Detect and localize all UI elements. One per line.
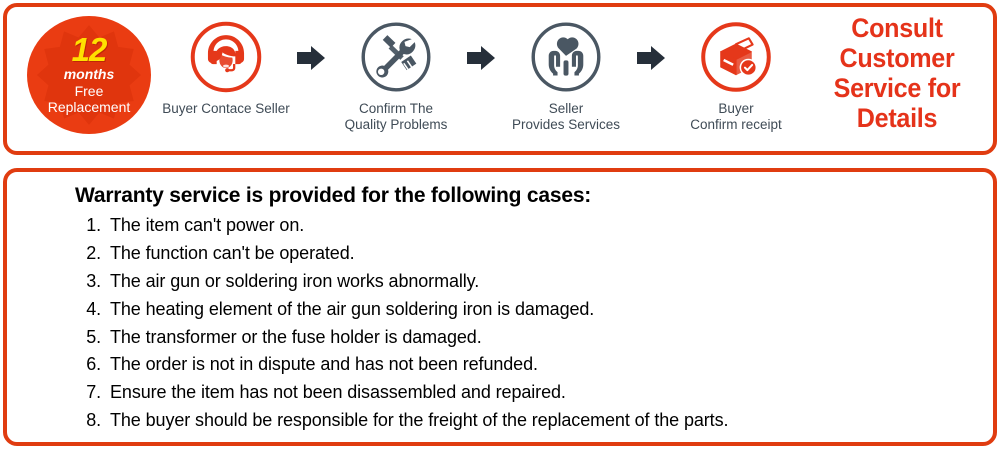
list-item-text: The air gun or soldering iron works abno… — [110, 268, 479, 296]
consult-line-1: Consult Customer — [808, 13, 987, 73]
list-item-text: Ensure the item has not been disassemble… — [110, 379, 566, 407]
arrow-3 — [631, 7, 671, 71]
list-item: 8. The buyer should be responsible for t… — [75, 407, 983, 435]
list-item-number: 2. — [75, 240, 110, 268]
list-item-number: 3. — [75, 268, 110, 296]
warranty-panel: Warranty service is provided for the fol… — [3, 168, 997, 446]
list-item-number: 1. — [75, 212, 110, 240]
process-step-seller-provides-services: Seller Provides Services — [501, 7, 631, 133]
list-item-number: 8. — [75, 407, 110, 435]
package-check-icon — [698, 19, 774, 95]
list-item-text: The order is not in dispute and has not … — [110, 351, 538, 379]
badge-free-label: Free — [75, 83, 104, 99]
wrench-screwdriver-icon — [358, 19, 434, 95]
list-item: 7. Ensure the item has not been disassem… — [75, 379, 983, 407]
process-step-label: Seller Provides Services — [512, 101, 620, 133]
list-item-number: 7. — [75, 379, 110, 407]
arrow-right-icon — [466, 45, 496, 71]
process-step-label: Buyer Confirm receipt — [690, 101, 782, 133]
list-item: 4. The heating element of the air gun so… — [75, 296, 983, 324]
list-item-text: The buyer should be responsible for the … — [110, 407, 728, 435]
list-item-text: The function can't be operated. — [110, 240, 355, 268]
badge-number: 12 — [72, 33, 107, 66]
process-step-confirm-quality-problems: Confirm The Quality Problems — [331, 7, 461, 133]
list-item-number: 6. — [75, 351, 110, 379]
process-step-buyer-confirm-receipt: Buyer Confirm receipt — [671, 7, 801, 133]
process-step-label: Buyer Contace Seller — [162, 101, 290, 117]
warranty-title: Warranty service is provided for the fol… — [75, 184, 983, 208]
list-item-text: The heating element of the air gun solde… — [110, 296, 594, 324]
list-item-number: 4. — [75, 296, 110, 324]
process-step-label: Confirm The Quality Problems — [345, 101, 448, 133]
list-item-number: 5. — [75, 324, 110, 352]
arrow-1 — [291, 7, 331, 71]
arrow-2 — [461, 7, 501, 71]
arrow-right-icon — [296, 45, 326, 71]
headset-support-agent-icon — [188, 19, 264, 95]
consult-customer-service-callout: Consult Customer Service for Details — [801, 7, 993, 153]
badge-replacement-label: Replacement — [48, 99, 131, 115]
list-item: 3. The air gun or soldering iron works a… — [75, 268, 983, 296]
list-item: 1. The item can't power on. — [75, 212, 983, 240]
process-row: 12 months Free Replacement Bu — [7, 7, 993, 151]
list-item: 6. The order is not in dispute and has n… — [75, 351, 983, 379]
warranty-badge: 12 months Free Replacement — [21, 7, 161, 151]
arrow-right-icon — [636, 45, 666, 71]
list-item: 5. The transformer or the fuse holder is… — [75, 324, 983, 352]
process-step-buyer-contact-seller: Buyer Contace Seller — [161, 7, 291, 117]
consult-line-2: Service for Details — [808, 73, 987, 133]
hands-holding-heart-icon — [528, 19, 604, 95]
badge-months-label: months — [64, 67, 115, 82]
list-item-text: The item can't power on. — [110, 212, 304, 240]
warranty-case-list: 1. The item can't power on. 2. The funct… — [75, 212, 983, 435]
process-panel: 12 months Free Replacement Bu — [3, 3, 997, 155]
warranty-content: Warranty service is provided for the fol… — [75, 184, 983, 435]
badge-circle: 12 months Free Replacement — [27, 16, 151, 134]
list-item: 2. The function can't be operated. — [75, 240, 983, 268]
list-item-text: The transformer or the fuse holder is da… — [110, 324, 482, 352]
